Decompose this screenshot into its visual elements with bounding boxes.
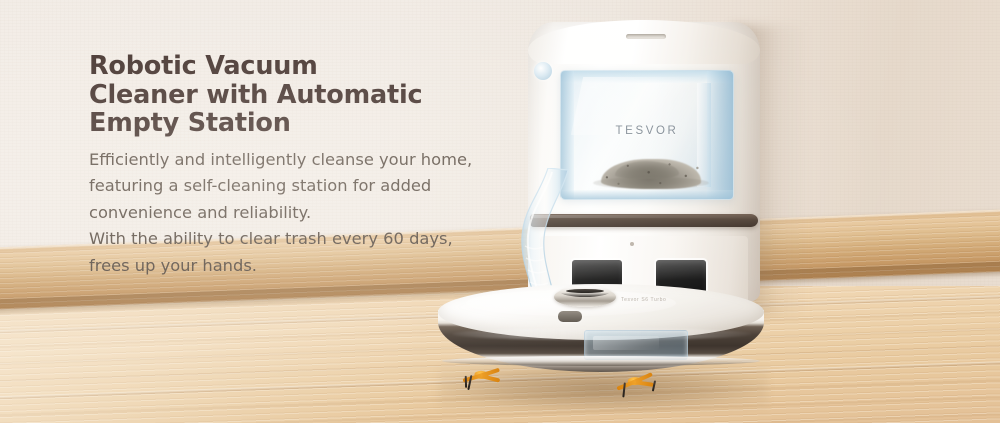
status-led-icon (630, 242, 634, 246)
robotic-vacuum: Tesvor S6 Turbo (438, 284, 764, 396)
bin-edge-bottom (561, 190, 733, 199)
band-highlight (530, 215, 758, 218)
robot-model-label: Tesvor S6 Turbo (621, 297, 691, 303)
lidar-window (566, 289, 604, 293)
station-vent-slot (626, 34, 666, 39)
bin-release-port (534, 62, 552, 80)
product-banner: Robotic Vacuum Cleaner with Automatic Em… (0, 0, 1000, 423)
brand-logo: TESVOR (561, 125, 733, 137)
debris-specks (593, 155, 709, 191)
brush-bristle (622, 382, 626, 397)
product-image: TESVOR (432, 18, 792, 418)
dark-accent-band (530, 214, 758, 227)
robot-power-button[interactable] (558, 311, 582, 322)
auto-empty-station: TESVOR (528, 18, 760, 318)
side-brush-left (455, 368, 510, 394)
robot-chrome-ring (442, 356, 760, 366)
brush-bristle (465, 376, 467, 388)
transparent-dust-bin: TESVOR (560, 70, 734, 200)
side-brush-right (610, 375, 665, 399)
